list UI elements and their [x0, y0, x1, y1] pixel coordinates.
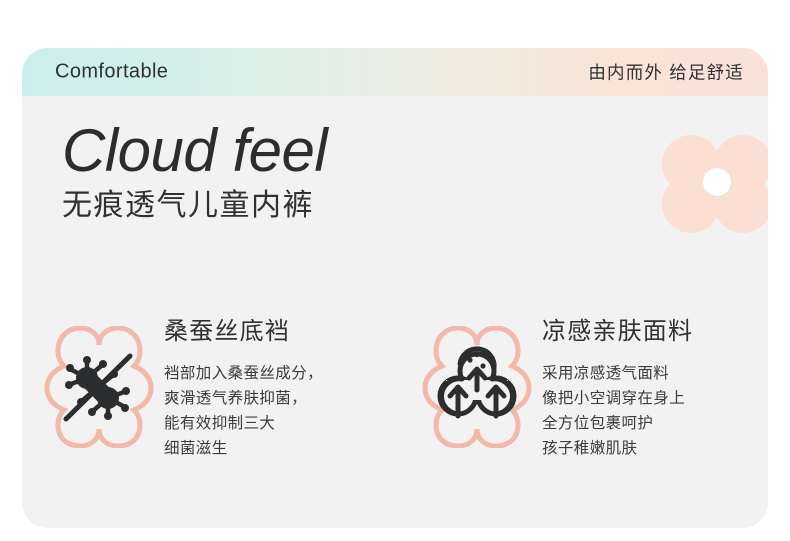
feature-description: 采用凉感透气面料 像把小空调穿在身上 全方位包裹呵护 孩子稚嫩肌肤	[542, 361, 768, 461]
feature-desc-line: 爽滑透气养肤抑菌，	[164, 386, 404, 411]
product-feature-banner: Comfortable 由内而外 给足舒适 Cloud feel 无痕透气儿童内…	[0, 0, 790, 541]
banner-card: Comfortable 由内而外 给足舒适 Cloud feel 无痕透气儿童内…	[22, 48, 768, 528]
feature-desc-line: 能有效抑制三大	[164, 411, 404, 436]
feature-title: 桑蚕丝底裆	[164, 318, 404, 347]
header-left-label: Comfortable	[55, 61, 168, 84]
feature-desc-line: 细菌滋生	[164, 436, 404, 461]
flower-outline-icon	[44, 326, 154, 448]
feature-desc-line: 采用凉感透气面料	[542, 361, 768, 386]
feature-description: 裆部加入桑蚕丝成分， 爽滑透气养肤抑菌， 能有效抑制三大 细菌滋生	[164, 361, 404, 461]
flower-outline-icon	[422, 326, 532, 448]
feature-desc-line: 像把小空调穿在身上	[542, 386, 768, 411]
header-band: Comfortable 由内而外 给足舒适	[22, 48, 768, 96]
flower-petal-icon	[658, 134, 768, 234]
page-title: Cloud feel	[62, 120, 327, 181]
feature-title: 凉感亲肤面料	[542, 318, 768, 347]
feature-text-block: 凉感亲肤面料 采用凉感透气面料 像把小空调穿在身上 全方位包裹呵护 孩子稚嫩肌肤	[542, 318, 768, 461]
feature-desc-line: 裆部加入桑蚕丝成分，	[164, 361, 404, 386]
feature-item-cool-fabric: 凉感亲肤面料 采用凉感透气面料 像把小空调穿在身上 全方位包裹呵护 孩子稚嫩肌肤	[422, 318, 768, 498]
feature-item-silk-gusset: 桑蚕丝底裆 裆部加入桑蚕丝成分， 爽滑透气养肤抑菌， 能有效抑制三大 细菌滋生	[44, 318, 404, 498]
feature-desc-line: 全方位包裹呵护	[542, 411, 768, 436]
feature-text-block: 桑蚕丝底裆 裆部加入桑蚕丝成分， 爽滑透气养肤抑菌， 能有效抑制三大 细菌滋生	[164, 318, 404, 461]
feature-desc-line: 孩子稚嫩肌肤	[542, 436, 768, 461]
feature-list: 桑蚕丝底裆 裆部加入桑蚕丝成分， 爽滑透气养肤抑菌， 能有效抑制三大 细菌滋生	[22, 318, 768, 498]
hero-block: Cloud feel 无痕透气儿童内裤	[62, 120, 327, 224]
page-subtitle: 无痕透气儿童内裤	[62, 189, 327, 224]
header-right-label: 由内而外 给足舒适	[588, 60, 744, 85]
